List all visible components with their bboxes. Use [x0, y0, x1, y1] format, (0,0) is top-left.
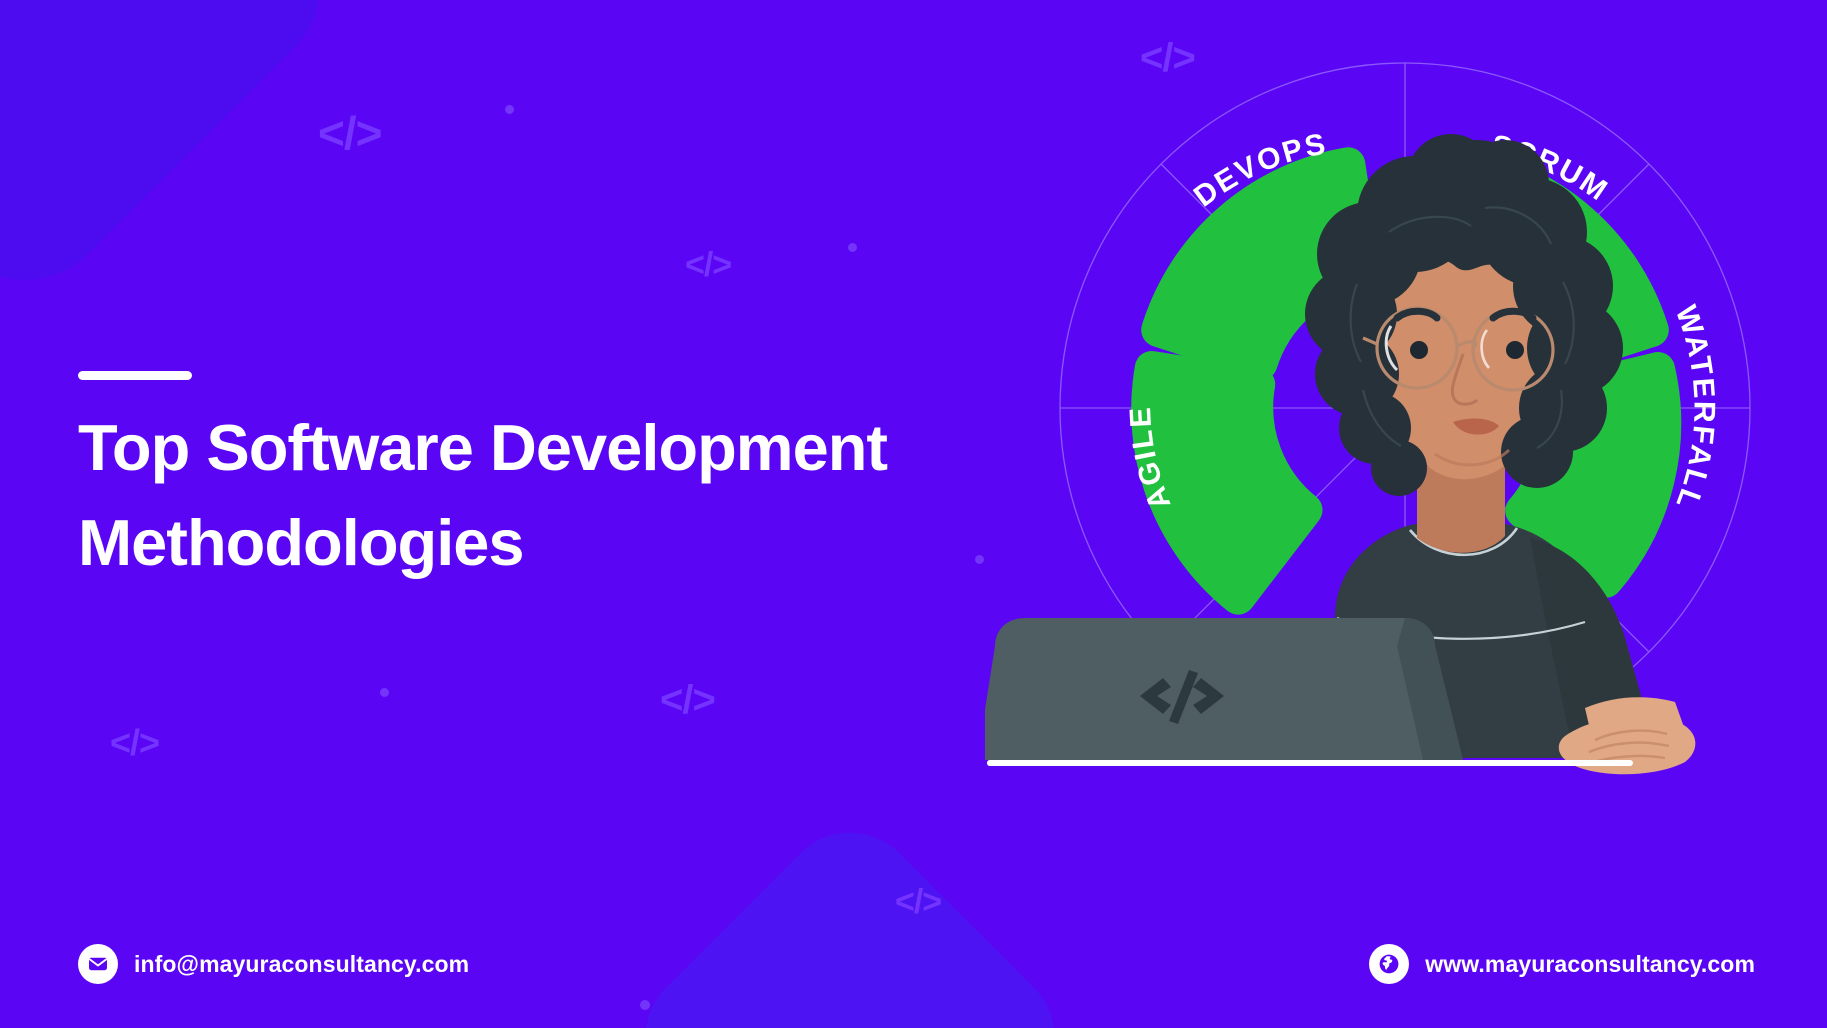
page-title-bold-part: Software Development — [206, 411, 887, 484]
decor-rounded-square-top-left-back — [0, 0, 177, 387]
code-glyph-icon: </> — [110, 725, 159, 761]
decor-dot — [848, 243, 857, 252]
footer-email-text: info@mayuraconsultancy.com — [134, 951, 469, 978]
decor-rounded-square-top-left — [0, 0, 357, 317]
laptop-body — [985, 618, 1463, 760]
code-glyph-icon: </> — [685, 248, 731, 282]
decor-dot — [505, 105, 514, 114]
footer-email[interactable]: info@mayuraconsultancy.com — [78, 944, 469, 984]
page-title-line-two: Methodologies — [78, 506, 524, 579]
decor-dot — [640, 1000, 650, 1010]
white-accent-rule — [78, 371, 192, 380]
poster-canvas: </> </> </> </> </> </> Top Software Dev… — [0, 0, 1827, 1028]
footer-website-text: www.mayuraconsultancy.com — [1425, 951, 1755, 978]
page-title-light-part: Top — [78, 411, 206, 484]
code-glyph-icon: </> — [660, 680, 715, 720]
code-glyph-icon: </> — [895, 885, 941, 919]
footer-website[interactable]: www.mayuraconsultancy.com — [1369, 944, 1755, 984]
page-title: Top Software Development Methodologies — [78, 400, 1008, 590]
code-glyph-icon: </> — [318, 110, 382, 156]
desk-surface-line-front — [987, 760, 1633, 766]
envelope-icon — [78, 944, 118, 984]
laptop-lid-surface — [985, 618, 1463, 760]
globe-icon — [1369, 944, 1409, 984]
decor-dot — [380, 688, 389, 697]
developer-with-laptop-illustration: DEVOPS SCRUM WATERFALL AGILE — [985, 18, 1825, 918]
